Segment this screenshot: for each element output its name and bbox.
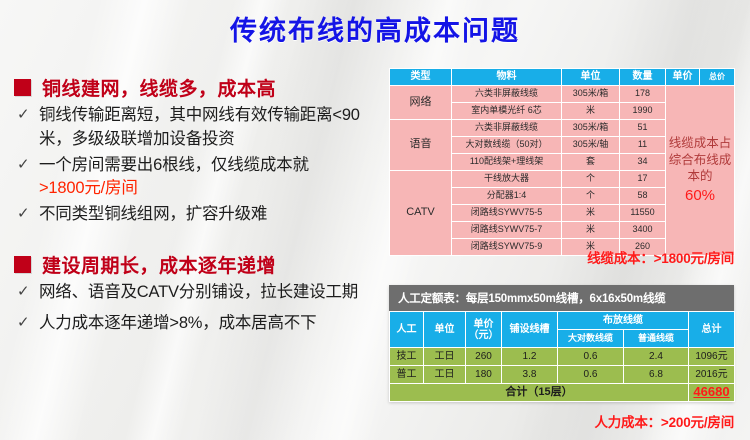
labor-cell-sub2: 2.4 xyxy=(624,348,689,366)
list-item: ✓ 不同类型铜线组网，扩容升级难 xyxy=(17,203,386,227)
labor-cell-labor: 普工 xyxy=(390,366,424,384)
bom-col-price: 单价 xyxy=(666,69,700,86)
bom-header-row: 类型 物料 单位 数量 单价 总价 xyxy=(390,69,735,86)
bom-unit: 米 xyxy=(562,222,620,239)
labor-cell-trough: 1.2 xyxy=(502,348,558,366)
bom-unit: 米 xyxy=(562,103,620,120)
table-row: 普工 工日 180 3.8 0.6 6.8 2016元 xyxy=(390,366,735,384)
labor-cell-price: 260 xyxy=(466,348,502,366)
bom-material: 110配线架+理线架 xyxy=(452,154,562,171)
list-item: ✓ 一个房间需要出6根线，仅线缆成本就>1800元/房间 xyxy=(17,154,386,202)
bom-qty: 11 xyxy=(620,137,666,154)
bom-material: 闭路线SYWV75-7 xyxy=(452,222,562,239)
labor-col-cabling-sub2: 普通线缆 xyxy=(624,330,689,348)
left-content-column: 铜线建网，线缆多，成本高 ✓ 铜线传输距离短，其中网线有效传输距离<90米，多级… xyxy=(14,74,386,348)
labor-cost-note: 人力成本：>200元/房间 xyxy=(389,411,734,431)
check-icon: ✓ xyxy=(17,104,39,126)
block-2-heading-label: 建设周期长，成本逐年递增 xyxy=(42,251,276,278)
red-square-bullet-icon xyxy=(14,79,31,96)
bom-qty: 34 xyxy=(620,154,666,171)
bom-qty: 11550 xyxy=(620,205,666,222)
left-block-1: 铜线建网，线缆多，成本高 ✓ 铜线传输距离短，其中网线有效传输距离<90米，多级… xyxy=(14,74,386,227)
bom-unit: 个 xyxy=(562,171,620,188)
bom-unit: 个 xyxy=(562,188,620,205)
check-icon: ✓ xyxy=(17,154,39,176)
bom-qty: 17 xyxy=(620,171,666,188)
labor-grand-total: 46680 xyxy=(689,384,735,402)
block-1-heading-label: 铜线建网，线缆多，成本高 xyxy=(42,74,276,101)
bom-col-total: 总价 xyxy=(700,69,735,86)
bom-group-network: 网络 xyxy=(390,86,452,120)
bom-material: 室内单模光纤 6芯 xyxy=(452,103,562,120)
labor-col-labor: 人工 xyxy=(390,312,424,348)
bom-col-unit: 单位 xyxy=(562,69,620,86)
table-row: 技工 工日 260 1.2 0.6 2.4 1096元 xyxy=(390,348,735,366)
labor-cell-total: 1096元 xyxy=(689,348,735,366)
labor-table-caption: 人工定额表：每层150mmx50m线槽，6x16x50m线缆 xyxy=(389,285,734,311)
labor-col-unit: 单位 xyxy=(424,312,466,348)
slide-root: 传统布线的高成本问题 铜线建网，线缆多，成本高 ✓ 铜线传输距离短，其中网线有效… xyxy=(0,0,750,440)
bom-unit: 套 xyxy=(562,154,620,171)
labor-total-label: 合计（15层） xyxy=(390,384,689,402)
labor-total-row: 合计（15层） 46680 xyxy=(390,384,735,402)
bom-table-wrapper: 类型 物料 单位 数量 单价 总价 网络 六类非屏蔽线缆 305米/箱 178 … xyxy=(389,68,734,256)
list-item-label: 网络、语音及CATV分别铺设，拉长建设工期 xyxy=(39,281,358,305)
list-item-label: 人力成本逐年递增>8%，成本居高不下 xyxy=(39,312,316,336)
labor-cell-labor: 技工 xyxy=(390,348,424,366)
labor-col-trough: 铺设线槽 xyxy=(502,312,558,348)
list-item: ✓ 铜线传输距离短，其中网线有效传输距离<90米，多级级联增加设备投资 xyxy=(17,104,386,152)
block-1-heading: 铜线建网，线缆多，成本高 xyxy=(14,74,386,101)
labor-col-cabling-sub1: 大对数线缆 xyxy=(558,330,624,348)
list-item-label: 不同类型铜线组网，扩容升级难 xyxy=(39,203,267,227)
list-item-label: 一个房间需要出6根线，仅线缆成本就>1800元/房间 xyxy=(39,154,309,202)
cable-cost-note: 线缆成本：>1800元/房间 xyxy=(389,247,734,267)
bom-material: 六类非屏蔽线缆 xyxy=(452,86,562,103)
list-item-highlight: >1800元/房间 xyxy=(39,179,138,197)
labor-table: 人工 单位 单价（元） 铺设线槽 布放线缆 总计 大对数线缆 普通线缆 技工 工… xyxy=(389,311,735,402)
labor-header-row-1: 人工 单位 单价（元） 铺设线槽 布放线缆 总计 xyxy=(390,312,735,330)
list-item: ✓ 人力成本逐年递增>8%，成本居高不下 xyxy=(17,312,386,336)
labor-cell-trough: 3.8 xyxy=(502,366,558,384)
bom-unit: 305米/箱 xyxy=(562,86,620,103)
bom-cost-note: 线缆成本占综合布线成本的60% xyxy=(666,86,735,256)
bom-unit: 305米/轴 xyxy=(562,137,620,154)
bom-col-qty: 数量 xyxy=(620,69,666,86)
bom-material: 分配器1:4 xyxy=(452,188,562,205)
labor-table-wrapper: 人工定额表：每层150mmx50m线槽，6x16x50m线缆 人工 单位 单价（… xyxy=(389,285,734,402)
bom-qty: 51 xyxy=(620,120,666,137)
labor-cell-price: 180 xyxy=(466,366,502,384)
bom-material: 大对数线缆（50对） xyxy=(452,137,562,154)
labor-cell-total: 2016元 xyxy=(689,366,735,384)
labor-col-price: 单价（元） xyxy=(466,312,502,348)
labor-col-cabling: 布放线缆 xyxy=(558,312,689,330)
bom-qty: 178 xyxy=(620,86,666,103)
check-icon: ✓ xyxy=(17,312,39,334)
block-2-heading: 建设周期长，成本逐年递增 xyxy=(14,251,386,278)
table-row: 网络 六类非屏蔽线缆 305米/箱 178 线缆成本占综合布线成本的60% xyxy=(390,86,735,103)
labor-col-price-line1: 单价 xyxy=(474,319,494,330)
check-icon: ✓ xyxy=(17,281,39,303)
labor-col-total: 总计 xyxy=(689,312,735,348)
bom-qty: 58 xyxy=(620,188,666,205)
bom-qty: 1990 xyxy=(620,103,666,120)
bom-col-type: 类型 xyxy=(390,69,452,86)
labor-cell-unit: 工日 xyxy=(424,348,466,366)
labor-cell-sub1: 0.6 xyxy=(558,348,624,366)
bom-table: 类型 物料 单位 数量 单价 总价 网络 六类非屏蔽线缆 305米/箱 178 … xyxy=(389,68,735,256)
list-item: ✓ 网络、语音及CATV分别铺设，拉长建设工期 xyxy=(17,281,386,305)
labor-col-price-line2: （元） xyxy=(469,330,499,341)
bom-col-material: 物料 xyxy=(452,69,562,86)
bom-unit: 米 xyxy=(562,205,620,222)
bom-unit: 305米/箱 xyxy=(562,120,620,137)
labor-cell-sub2: 6.8 xyxy=(624,366,689,384)
check-icon: ✓ xyxy=(17,203,39,225)
list-item-text: 一个房间需要出6根线，仅线缆成本就 xyxy=(39,156,309,174)
bom-group-catv: CATV xyxy=(390,171,452,256)
bom-group-voice: 语音 xyxy=(390,120,452,171)
bom-material: 闭路线SYWV75-5 xyxy=(452,205,562,222)
left-block-2: 建设周期长，成本逐年递增 ✓ 网络、语音及CATV分别铺设，拉长建设工期 ✓ 人… xyxy=(14,251,386,336)
list-item-label: 铜线传输距离短，其中网线有效传输距离<90米，多级级联增加设备投资 xyxy=(39,104,386,152)
labor-cell-unit: 工日 xyxy=(424,366,466,384)
red-square-bullet-icon xyxy=(14,256,31,273)
bom-cost-note-text: 线缆成本占综合布线成本的 xyxy=(669,136,732,183)
bom-material: 六类非屏蔽线缆 xyxy=(452,120,562,137)
bom-material: 干线放大器 xyxy=(452,171,562,188)
labor-cell-sub1: 0.6 xyxy=(558,366,624,384)
bom-cost-percent: 60% xyxy=(668,186,732,206)
bom-qty: 3400 xyxy=(620,222,666,239)
page-title: 传统布线的高成本问题 xyxy=(0,0,750,48)
